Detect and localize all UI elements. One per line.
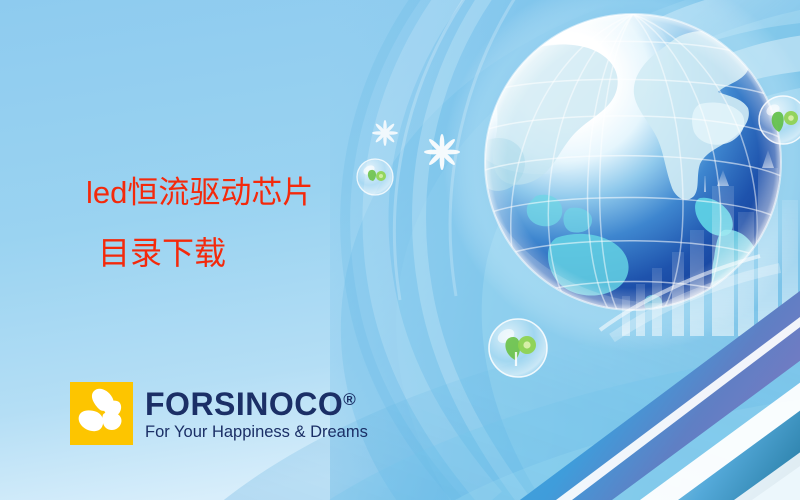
pinwheel-logo-icon (70, 382, 133, 445)
brand-text: FORSINOCO® For Your Happiness & Dreams (145, 383, 368, 442)
pinwheel-icon-svg (70, 382, 133, 445)
bubble-right-edge (759, 96, 800, 144)
banner-canvas: led恒流驱动芯片 目录下载 FORSINOCO® For Your Happi… (0, 0, 800, 500)
registered-trademark-icon: ® (343, 390, 356, 409)
brand-wordmark-text: FORSINOCO (145, 386, 343, 422)
brand-wordmark: FORSINOCO® (145, 383, 368, 421)
brand-tagline: For Your Happiness & Dreams (145, 422, 368, 442)
bubble-large-bottom (489, 319, 547, 377)
bubble-small-top (357, 159, 393, 195)
brand-logo: FORSINOCO® For Your Happiness & Dreams (70, 382, 368, 445)
